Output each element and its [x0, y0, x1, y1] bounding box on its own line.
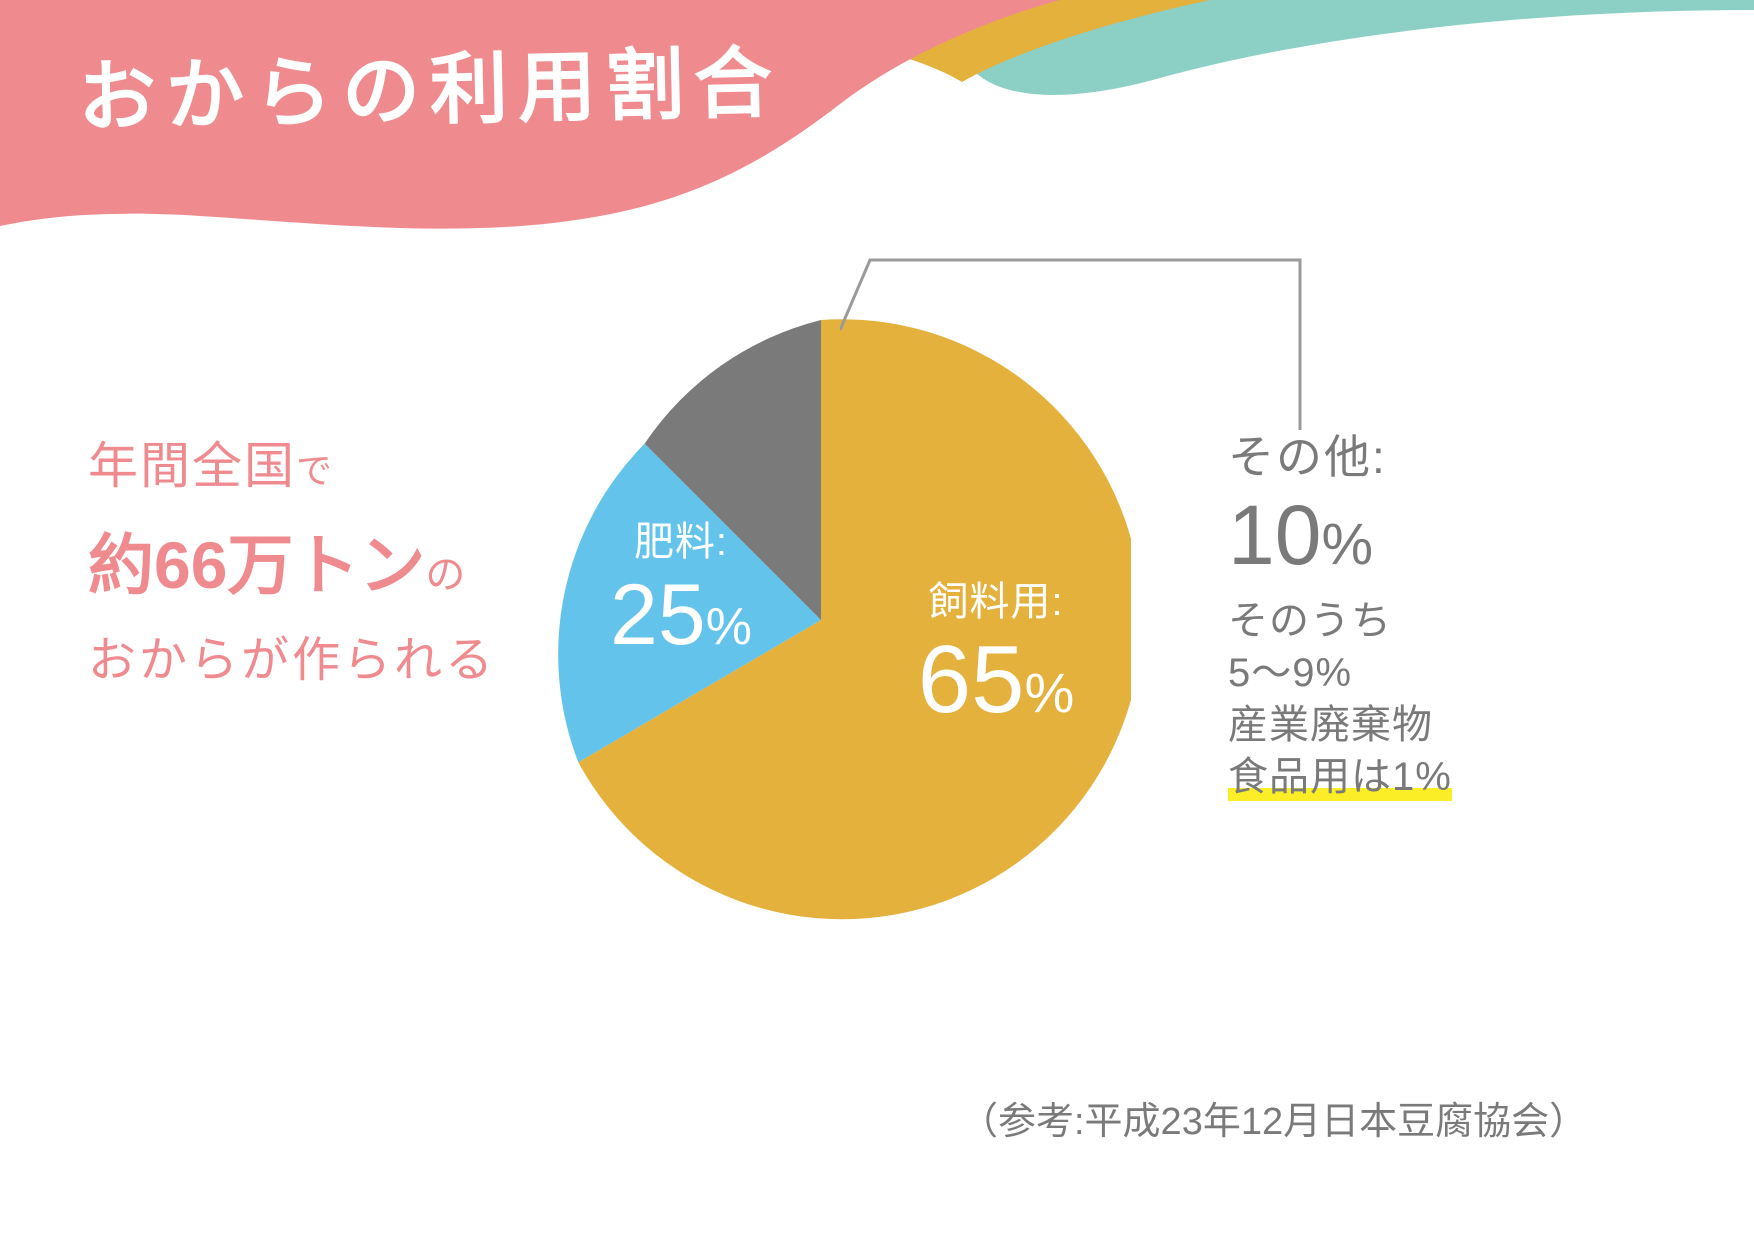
copy-line-2-small: の — [425, 553, 465, 597]
other-label: その他: — [1228, 432, 1648, 483]
other-value-number: 10 — [1228, 488, 1321, 582]
source-note: （参考:平成23年12月日本豆腐協会） — [960, 1090, 1660, 1145]
other-detail-line-1: そのうち — [1228, 595, 1648, 647]
infographic-poster: おからの利用割合 年間全国で 約66万トンの おからが作られる 飼料用: 65%… — [0, 0, 1754, 1241]
other-value: 10% — [1228, 491, 1648, 579]
other-value-pct: % — [1321, 512, 1373, 577]
other-detail-line-3: 産業廃棄物 — [1228, 699, 1648, 751]
copy-line-1-small: で — [296, 450, 334, 491]
other-detail-line-4: 食品用は1% — [1228, 751, 1648, 803]
other-annotation-block: その他: 10% そのうち 5〜9% 産業廃棄物 食品用は1% — [1228, 432, 1648, 803]
highlighted-food-use-text: 食品用は1% — [1228, 755, 1452, 801]
other-detail-line-2: 5〜9% — [1228, 647, 1648, 699]
copy-line-1: 年間全国で — [88, 440, 558, 493]
left-copy-block: 年間全国で 約66万トンの おからが作られる — [88, 440, 558, 686]
pie-chart: 飼料用: 65% 肥料: 25% — [511, 310, 1131, 930]
copy-line-2: 約66万トンの — [88, 531, 558, 600]
other-detail-list: そのうち 5〜9% 産業廃棄物 食品用は1% — [1228, 595, 1648, 803]
copy-line-1-main: 年間全国 — [88, 438, 296, 494]
page-title: おからの利用割合 — [77, 45, 782, 138]
copy-line-2-main: 約66万トン — [88, 528, 425, 602]
copy-line-3: おからが作られる — [88, 636, 558, 686]
